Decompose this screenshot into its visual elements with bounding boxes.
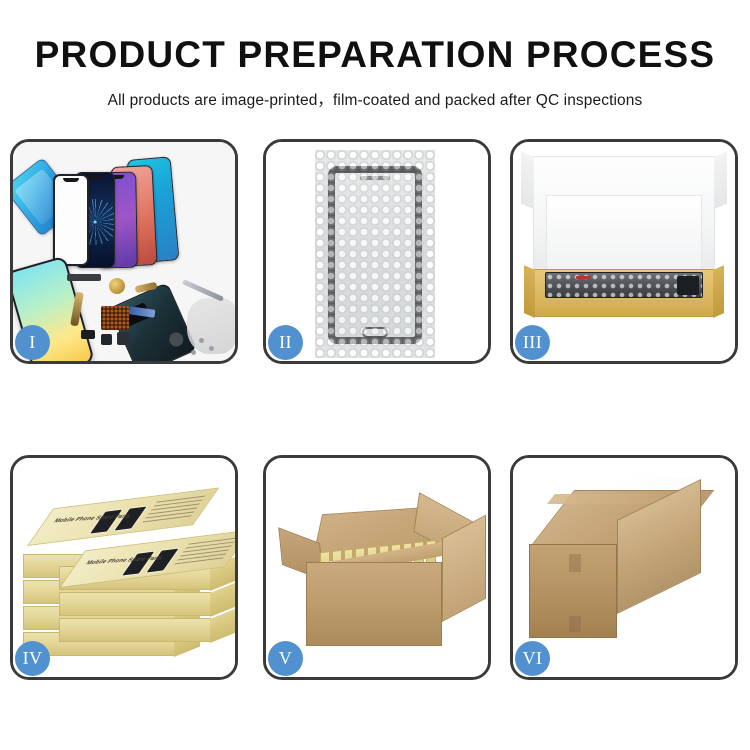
process-step-panel-1: I (10, 139, 238, 364)
notch-icon (63, 178, 79, 182)
part-chip-1 (81, 330, 95, 339)
step-badge-2: II (268, 325, 303, 360)
phone-parts-scene (13, 142, 235, 361)
step-badge-6: VI (515, 641, 550, 676)
step-5-image (266, 458, 488, 677)
carton-seam-upper (569, 554, 581, 572)
box-spec-lines (140, 496, 205, 526)
open-carton-scene (266, 458, 488, 677)
red-label-strip (576, 276, 590, 279)
home-button-icon (362, 327, 388, 338)
page-subtitle: All products are image-printed，film-coat… (0, 88, 750, 110)
step-6-image (513, 458, 735, 677)
process-step-panel-2: II (263, 139, 491, 364)
part-chip-3 (117, 332, 129, 345)
carton-sealing-tape (547, 494, 667, 504)
stacked-box (59, 618, 211, 642)
step-3-image (513, 142, 735, 361)
step-badge-5: V (268, 641, 303, 676)
carton-seam-lower (569, 616, 581, 632)
step-badge-1: I (15, 325, 50, 360)
header: PRODUCT PREPARATION PROCESS All products… (0, 0, 750, 110)
part-copper-mesh (101, 306, 129, 330)
page-title: PRODUCT PREPARATION PROCESS (0, 36, 750, 75)
wrapped-screen-in-box (545, 272, 703, 298)
step-badge-4: IV (15, 641, 50, 676)
process-step-grid: I II (10, 139, 740, 685)
foam-padding (546, 195, 702, 271)
part-speaker (109, 278, 125, 294)
notch-icon (87, 175, 103, 179)
part-connector-bar (67, 274, 101, 281)
sealed-carton-scene (513, 458, 735, 677)
earpiece-icon (360, 176, 390, 180)
phone-white-glass (53, 174, 89, 266)
box-stack: Mobile Phone Spare Parts Mobile Phone Sp… (19, 480, 233, 662)
step-2-image (266, 142, 488, 361)
stacked-boxes-scene: Mobile Phone Spare Parts Mobile Phone Sp… (13, 458, 235, 677)
bubble-wrap-sheet (315, 150, 435, 358)
part-screw (199, 338, 204, 343)
part-screw (209, 346, 214, 351)
carton-front-face (306, 562, 442, 646)
box-spec-lines (172, 538, 235, 568)
process-step-panel-3: III (510, 139, 738, 364)
step-4-image: Mobile Phone Spare Parts Mobile Phone Sp… (13, 458, 235, 677)
bubble-wrap-scene (266, 142, 488, 361)
part-chip-2 (101, 334, 112, 345)
wrapped-screen (328, 166, 422, 344)
stacked-box (59, 592, 211, 616)
part-screw (191, 350, 196, 355)
process-step-panel-6: VI (510, 455, 738, 680)
process-step-panel-4: Mobile Phone Spare Parts Mobile Phone Sp… (10, 455, 238, 680)
step-badge-3: III (515, 325, 550, 360)
step-1-image (13, 142, 235, 361)
product-preparation-infographic: PRODUCT PREPARATION PROCESS All products… (0, 0, 750, 750)
process-step-panel-5: V (263, 455, 491, 680)
mailer-box-scene (513, 142, 735, 361)
